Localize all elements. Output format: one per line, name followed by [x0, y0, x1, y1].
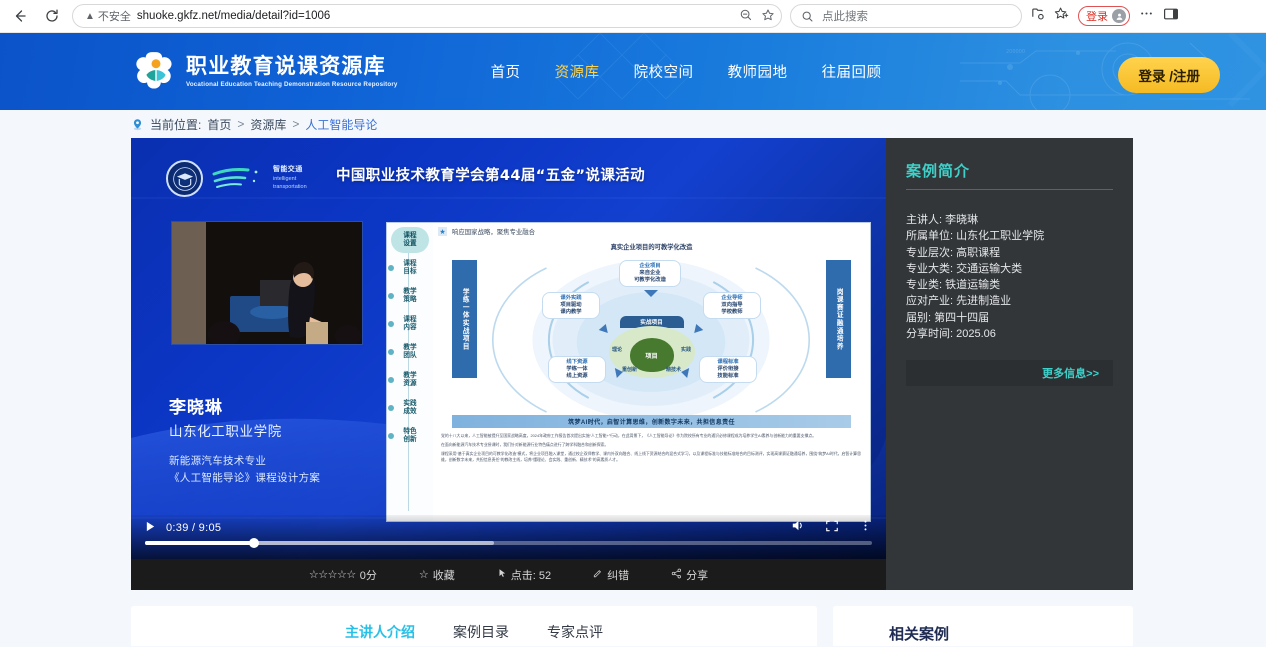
diagram-core-bottom-2: 精技术 [666, 366, 681, 373]
major-line-1: 新能源汽车技术专业 [169, 453, 320, 470]
more-options-icon[interactable] [1139, 6, 1154, 26]
tab-presenter-intro[interactable]: 主讲人介绍 [345, 622, 415, 642]
svg-text:200000: 200000 [1006, 49, 1025, 55]
slide-nav-item-course-content[interactable]: 课程内容 [391, 311, 429, 337]
star-icon: ★ [438, 227, 447, 236]
diagram-banner: 筑梦AI时代，启智计算思维，创新数字未来，共担信息责任 [452, 415, 851, 428]
node-line-2: 双向指导 [707, 302, 757, 309]
search-input[interactable]: 点此搜索 [790, 4, 1022, 28]
detail-tabs: 主讲人介绍 案例目录 专家点评 [131, 606, 817, 646]
logo-title-cn: 职业教育说课资源库 [186, 55, 398, 79]
related-cases-title: 相关案例 [889, 623, 949, 644]
swoosh-icon [212, 164, 264, 194]
info-row-institution: 所属单位: 山东化工职业学院 [906, 228, 1113, 244]
diagram-node-offline-resources: 线下资源 学练一体 线上资源 [548, 356, 606, 383]
diagram-node-course-standard: 课程标准 评价衔接 技能标准 [699, 356, 757, 383]
nav-label-a: 特色 [403, 428, 416, 436]
slide-section-nav: 课程 设置 课程目标 教学策略 课程内容 教学团队 [387, 223, 433, 521]
pencil-icon [593, 568, 603, 581]
case-info-divider [906, 189, 1113, 190]
diagram-node-enterprise-project: 企业项目 来自企业 可教学化改造 [619, 260, 681, 287]
nav-label-a: 教学 [403, 372, 416, 380]
search-icon [801, 10, 814, 23]
play-icon[interactable] [145, 519, 156, 537]
zoom-out-icon[interactable] [739, 8, 753, 25]
favorite-button[interactable]: ☆ 收藏 [419, 567, 455, 583]
url-text: shuoke.gkfz.net/media/detail?id=1006 [137, 10, 330, 22]
report-error-label: 纠错 [607, 567, 629, 583]
video-controls: 0:39 / 9:05 [131, 515, 886, 559]
action-bar: ☆☆☆☆☆ 0分 ☆ 收藏 点击: 52 [131, 559, 886, 590]
info-row-major: 专业类: 铁道运输类 [906, 277, 1113, 293]
breadcrumb-resources[interactable]: 资源库 [250, 116, 286, 133]
node-line-3: 课内教学 [546, 309, 596, 316]
node-line-2: 来自企业 [623, 270, 677, 277]
nav-bullet-icon [388, 377, 394, 383]
content-row: 智能交通 intelligent transportation 中国职业技术教育… [0, 138, 1266, 590]
volume-icon[interactable] [790, 518, 805, 538]
favorite-label: 收藏 [433, 567, 455, 583]
browser-toolbar: ▲ 不安全 shuoke.gkfz.net/media/detail?id=10… [0, 0, 1266, 33]
org-name-en-1: intelligent [273, 176, 307, 184]
breadcrumb-sep-1: > [237, 117, 244, 131]
search-placeholder: 点此搜索 [822, 8, 868, 24]
cursor-icon [497, 568, 507, 581]
sidebar-toggle-icon[interactable] [1163, 6, 1179, 27]
node-line-2: 学练一体 [552, 366, 602, 373]
page-body: 当前位置: 首页 > 资源库 > 人工智能导论 [0, 110, 1266, 647]
event-organization-badge: 智能交通 intelligent transportation [166, 160, 307, 197]
info-row-major-category: 专业大类: 交通运输大类 [906, 261, 1113, 277]
node-line-3: 线上资源 [552, 373, 602, 380]
share-button[interactable]: 分享 [671, 567, 708, 583]
video-time: 0:39 / 9:05 [166, 522, 221, 534]
main-navigation: 首页 资源库 院校空间 教师园地 往届回顾 [491, 61, 882, 82]
presenter-major: 新能源汽车技术专业 《人工智能导论》课程设计方案 [169, 453, 320, 488]
breadcrumb-sep-2: > [292, 117, 299, 131]
info-row-industry: 应对产业: 先进制造业 [906, 293, 1113, 309]
click-count: 点击: 52 [497, 567, 551, 583]
nav-bullet-icon [388, 349, 394, 355]
nav-label-a: 课程 [403, 232, 416, 240]
nav-item-campus[interactable]: 院校空间 [634, 61, 694, 82]
login-register-button[interactable]: 登录 /注册 [1118, 57, 1220, 93]
major-line-2: 《人工智能导论》课程设计方案 [169, 470, 320, 487]
report-error-button[interactable]: 纠错 [593, 567, 629, 583]
nav-bullet-icon [388, 293, 394, 299]
logo-flower-icon [134, 50, 178, 94]
diagram-node-enterprise-mentor: 企业导师 双向指导 学校教师 [703, 292, 761, 319]
slide-paragraphs: 党的十八大以来，人工智能被提升至国家战略高度，2024年政府工作报告首次提出实施… [438, 433, 865, 464]
course-model-diagram: 真实企业项目的可教学化改造 学练一体实战项目 岗课赛证融通培养 企业项目 来自企… [438, 238, 865, 430]
rating-score: 0分 [360, 567, 377, 583]
media-card: 智能交通 intelligent transportation 中国职业技术教育… [131, 138, 1133, 590]
slide-heading: ★ 响应国家战略，聚焦专业融合 [438, 227, 865, 236]
nav-label-b: 资源 [403, 380, 416, 388]
nav-label-a: 课程 [403, 260, 416, 268]
related-cases-card: 相关案例 [833, 606, 1133, 646]
org-name-en-2: transportation [273, 184, 307, 192]
node-title: 企业项目 [623, 263, 677, 270]
presenter-photo [171, 221, 363, 345]
profile-login-button[interactable]: 登录 [1078, 6, 1130, 26]
video-column: 智能交通 intelligent transportation 中国职业技术教育… [131, 138, 886, 590]
nav-bullet-icon [388, 405, 394, 411]
video-player[interactable]: 智能交通 intelligent transportation 中国职业技术教育… [131, 138, 886, 559]
click-count-label: 点击: 52 [511, 567, 551, 583]
diagram-side-left: 学练一体实战项目 [452, 260, 477, 378]
case-info-title: 案例简介 [906, 160, 1113, 181]
info-row-session: 届别: 第四十四届 [906, 310, 1113, 326]
security-label: 不安全 [98, 8, 131, 24]
vertical-dots-icon[interactable] [859, 519, 872, 537]
diagram-node-extracurricular: 课外实践 项目驱动 课内教学 [542, 292, 600, 319]
security-indicator[interactable]: ▲ 不安全 [85, 8, 131, 24]
share-icon [671, 568, 682, 582]
reload-button[interactable] [40, 4, 64, 28]
diagram-side-right: 岗课赛证融通培养 [826, 260, 851, 378]
collections-icon[interactable] [1030, 6, 1045, 26]
breadcrumb-home[interactable]: 首页 [207, 116, 231, 133]
nav-item-teachers[interactable]: 教师园地 [728, 61, 788, 82]
node-line-3: 技能标准 [703, 373, 753, 380]
video-scrubber-handle[interactable] [249, 538, 259, 548]
presenter-organization: 山东化工职业学院 [169, 420, 282, 440]
slide-nav-item-course-setup[interactable]: 课程 设置 [391, 227, 429, 253]
breadcrumb-prefix: 当前位置: [150, 116, 201, 133]
nav-label-b: 目标 [403, 268, 416, 276]
back-arrow-icon [12, 8, 28, 24]
more-info-button[interactable]: 更多信息>> [906, 360, 1113, 386]
slide-nav-item-practice-results[interactable]: 实践成效 [391, 395, 429, 421]
diagram-core-left: 理论 [612, 346, 622, 353]
site-header: 200000 职业教育说课资源库 Vocational Education Te… [0, 33, 1266, 110]
slide-paragraph-2: 在面向新能源汽车技术专业授课时，我们针对新能源行业特色痛点进行了跨学科融合和创新… [441, 442, 862, 449]
nav-item-resources[interactable]: 资源库 [555, 61, 600, 82]
nav-label-a: 教学 [403, 288, 416, 296]
nav-label-a: 教学 [403, 344, 416, 352]
back-button[interactable] [8, 4, 32, 28]
video-played [145, 541, 254, 545]
presenter-name: 李晓琳 [169, 393, 223, 418]
avatar [1112, 9, 1126, 23]
node-line-2: 评价衔接 [703, 366, 753, 373]
warning-triangle-icon: ▲ [85, 11, 95, 22]
case-info-rows: 主讲人: 李晓琳 所属单位: 山东化工职业学院 专业层次: 高职课程 专业大类:… [906, 212, 1113, 342]
share-label: 分享 [686, 567, 708, 583]
tab-case-catalog[interactable]: 案例目录 [453, 622, 509, 642]
profile-login-label: 登录 [1086, 8, 1108, 24]
slide-heading-text: 响应国家战略，聚焦专业融合 [452, 227, 535, 236]
nav-label-b: 团队 [403, 352, 416, 360]
diagram-core-bottom-1: 重创新 [622, 366, 637, 373]
location-pin-icon [131, 118, 144, 131]
node-title: 线下资源 [552, 359, 602, 366]
org-name-cn: 智能交通 [273, 165, 307, 175]
slide-nav-item-feature-innovation[interactable]: 特色创新 [391, 423, 429, 449]
breadcrumb-current[interactable]: 人工智能导论 [305, 116, 377, 133]
nav-label-b: 创新 [403, 436, 416, 444]
diagram-arc-title: 真实企业项目的可教学化改造 [611, 242, 693, 251]
node-line-3: 可教学化改造 [623, 277, 677, 284]
address-bar[interactable]: ▲ 不安全 shuoke.gkfz.net/media/detail?id=10… [72, 4, 782, 28]
star-outline-icon: ☆ [419, 568, 429, 581]
diagram-core-right: 实践 [681, 346, 691, 353]
favorites-icon[interactable] [1054, 6, 1069, 26]
info-row-presenter: 主讲人: 李晓琳 [906, 212, 1113, 228]
slide-panel: 课程 设置 课程目标 教学策略 课程内容 教学团队 [386, 222, 871, 522]
rating-stars-icon: ☆☆☆☆☆ [309, 568, 356, 581]
node-title: 课程标准 [703, 359, 753, 366]
slide-event-title: 中国职业技术教育学会第44届“五金”说课活动 [336, 164, 645, 185]
nav-label-b: 设置 [403, 240, 416, 248]
bottom-section: 主讲人介绍 案例目录 专家点评 相关案例 [0, 606, 1266, 646]
site-logo[interactable]: 职业教育说课资源库 Vocational Education Teaching … [134, 50, 398, 94]
logo-title-en: Vocational Education Teaching Demonstrat… [186, 81, 398, 88]
nav-label-b: 策略 [403, 296, 416, 304]
star-icon[interactable] [761, 8, 775, 25]
nav-item-home[interactable]: 首页 [491, 61, 521, 82]
rating-control[interactable]: ☆☆☆☆☆ 0分 [309, 567, 377, 583]
tab-expert-review[interactable]: 专家点评 [547, 622, 603, 642]
info-row-share-time: 分享时间: 2025.06 [906, 326, 1113, 342]
slide-paragraph-1: 党的十八大以来，人工智能被提升至国家战略高度，2024年政府工作报告首次提出实施… [441, 433, 862, 440]
node-title: 课外实践 [546, 295, 596, 302]
fullscreen-icon[interactable] [825, 519, 839, 538]
org-seal-icon [166, 160, 203, 197]
slide-nav-item-teaching-resources[interactable]: 教学资源 [391, 367, 429, 393]
breadcrumb: 当前位置: 首页 > 资源库 > 人工智能导论 [0, 110, 1266, 138]
slide-nav-item-course-goal[interactable]: 课程目标 [391, 255, 429, 281]
nav-bullet-icon [388, 321, 394, 327]
node-line-3: 学校教师 [707, 309, 757, 316]
slide-nav-item-teaching-team[interactable]: 教学团队 [391, 339, 429, 365]
slide-paragraph-3: 课程采用“基于真实企业项目的可教学化改造”模式，将企业项目融入课堂，通过校企双师… [441, 451, 862, 465]
nav-item-archive[interactable]: 往届回顾 [822, 61, 882, 82]
node-title: 企业导师 [707, 295, 757, 302]
reload-icon [44, 8, 60, 24]
nav-label-b: 成效 [403, 408, 416, 416]
nav-bullet-icon [388, 265, 394, 271]
video-progress-bar[interactable] [145, 541, 872, 545]
slide-content: ★ 响应国家战略，聚焦专业融合 [433, 223, 870, 521]
node-line-2: 项目驱动 [546, 302, 596, 309]
org-subtitle: 智能交通 intelligent transportation [273, 165, 307, 191]
slide-nav-item-teaching-strategy[interactable]: 教学策略 [391, 283, 429, 309]
nav-label-b: 内容 [403, 324, 416, 332]
info-row-level: 专业层次: 高职课程 [906, 245, 1113, 261]
nav-label-a: 实践 [403, 400, 416, 408]
case-info-panel: 案例简介 主讲人: 李晓琳 所属单位: 山东化工职业学院 专业层次: 高职课程 … [886, 138, 1133, 590]
nav-bullet-icon [388, 433, 394, 439]
nav-label-a: 课程 [403, 316, 416, 324]
